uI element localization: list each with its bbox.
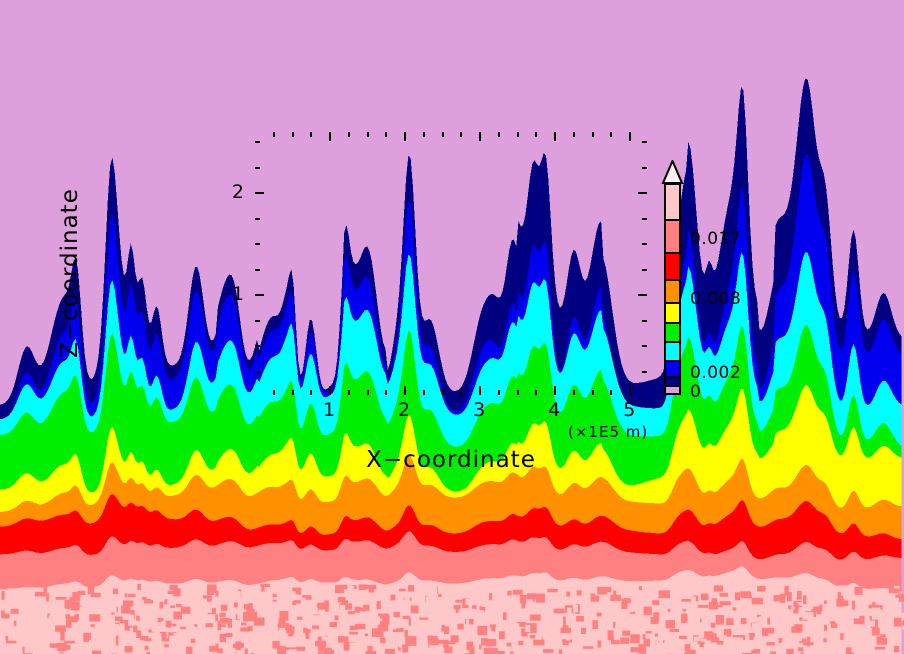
tick-mark bbox=[273, 132, 275, 137]
tick-mark bbox=[554, 386, 556, 395]
y-tick-label: 2 bbox=[226, 181, 244, 203]
tick-mark bbox=[460, 390, 462, 395]
tick-mark bbox=[255, 320, 260, 322]
tick-mark bbox=[404, 132, 406, 141]
colorbar-band-divider bbox=[666, 376, 679, 378]
tick-mark bbox=[255, 345, 260, 347]
colorbar-band-divider bbox=[666, 341, 679, 343]
tick-mark bbox=[255, 294, 264, 296]
tick-mark bbox=[442, 390, 444, 395]
tick-mark bbox=[517, 390, 519, 395]
tick-mark bbox=[255, 167, 260, 169]
tick-mark bbox=[442, 132, 444, 137]
tick-mark bbox=[573, 390, 575, 395]
colorbar-band bbox=[666, 303, 679, 324]
tick-mark bbox=[255, 192, 264, 194]
tick-mark bbox=[348, 132, 350, 137]
colorbar-band bbox=[666, 323, 679, 342]
colorbar-band bbox=[666, 185, 679, 220]
tick-mark bbox=[535, 390, 537, 395]
tick-mark bbox=[348, 390, 350, 395]
colorbar-band-divider bbox=[666, 385, 679, 387]
x-tick-label: 4 bbox=[548, 399, 560, 421]
colorbar-band bbox=[666, 220, 679, 252]
tick-mark bbox=[479, 132, 481, 141]
x-tick-label: 2 bbox=[398, 399, 410, 421]
tick-mark bbox=[517, 132, 519, 137]
colorbar-band-divider bbox=[666, 302, 679, 304]
y-tick-label: 1 bbox=[226, 283, 244, 305]
x-tick-label: 3 bbox=[473, 399, 485, 421]
tick-mark bbox=[404, 386, 406, 395]
tick-mark bbox=[642, 320, 647, 322]
colorbar-tick-label: 0.002 bbox=[690, 363, 741, 383]
tick-mark bbox=[255, 269, 260, 271]
tick-mark bbox=[573, 132, 575, 137]
tick-mark bbox=[629, 132, 631, 141]
tick-mark bbox=[642, 371, 647, 373]
tick-mark bbox=[310, 132, 312, 137]
colorbar-band bbox=[666, 386, 679, 393]
colorbar-band-divider bbox=[666, 252, 679, 254]
tick-mark bbox=[310, 390, 312, 395]
tick-mark bbox=[273, 390, 275, 395]
tick-mark bbox=[423, 390, 425, 395]
tick-mark bbox=[610, 132, 612, 137]
colorbar-extend-arrow bbox=[661, 160, 684, 184]
tick-mark bbox=[642, 141, 647, 143]
tick-mark bbox=[638, 192, 647, 194]
tick-mark bbox=[535, 132, 537, 137]
tick-mark bbox=[292, 132, 294, 137]
tick-mark bbox=[642, 167, 647, 169]
tick-mark bbox=[642, 243, 647, 245]
colorbar-tick-label: 0.017 bbox=[690, 229, 741, 249]
colorbar-tick-label: 0 bbox=[690, 382, 701, 402]
tick-mark bbox=[629, 386, 631, 395]
tick-mark bbox=[498, 390, 500, 395]
tick-mark bbox=[255, 218, 260, 220]
tick-mark bbox=[592, 390, 594, 395]
colorbar-band bbox=[666, 361, 679, 378]
y-axis-title: Z−coordinate bbox=[57, 143, 83, 403]
tick-mark bbox=[292, 390, 294, 395]
tick-mark bbox=[385, 390, 387, 395]
colorbar-band bbox=[666, 342, 679, 361]
colorbar-band-divider bbox=[666, 360, 679, 362]
x-tick-label: 1 bbox=[323, 399, 335, 421]
colorbar bbox=[664, 183, 681, 395]
tick-mark bbox=[642, 218, 647, 220]
colorbar-band-divider bbox=[666, 219, 679, 221]
tick-mark bbox=[460, 132, 462, 137]
tick-mark bbox=[554, 132, 556, 141]
tick-mark bbox=[367, 132, 369, 137]
x-axis-unit-label: (×1E5 m) bbox=[568, 423, 648, 441]
tick-mark bbox=[385, 132, 387, 137]
x-tick-label: 5 bbox=[623, 399, 635, 421]
tick-mark bbox=[498, 132, 500, 137]
tick-mark bbox=[329, 132, 331, 141]
colorbar-tick-label: 0.008 bbox=[690, 289, 741, 309]
tick-mark bbox=[642, 345, 647, 347]
tick-mark bbox=[479, 386, 481, 395]
tick-mark bbox=[255, 371, 260, 373]
tick-mark bbox=[592, 132, 594, 137]
tick-mark bbox=[638, 294, 647, 296]
x-axis-title: X−coordinate bbox=[254, 447, 648, 473]
colorbar-band bbox=[666, 253, 679, 280]
tick-mark bbox=[367, 390, 369, 395]
colorbar-band bbox=[666, 280, 679, 303]
tick-mark bbox=[610, 390, 612, 395]
tick-mark bbox=[642, 269, 647, 271]
tick-mark bbox=[255, 243, 260, 245]
colorbar-band-divider bbox=[666, 279, 679, 281]
tick-mark bbox=[423, 132, 425, 137]
colorbar-band-divider bbox=[666, 322, 679, 324]
tick-mark bbox=[329, 386, 331, 395]
tick-mark bbox=[255, 141, 260, 143]
